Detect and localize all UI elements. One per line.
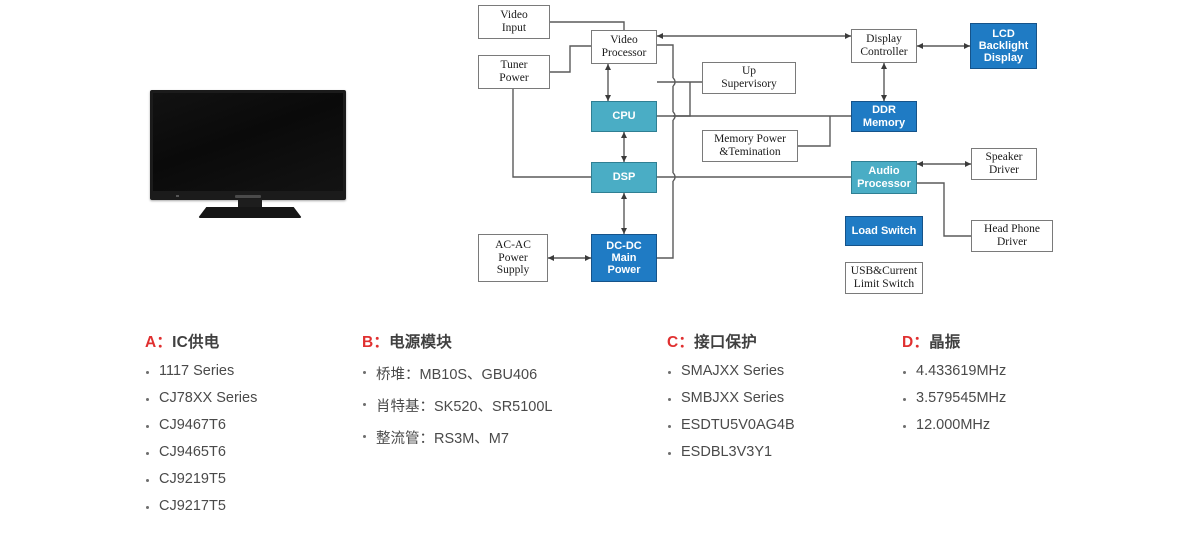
legend-list-b: 桥堆：MB10S、GBU406 肖特基：SK520、SR5100L 整流管：RS… [362,363,553,448]
legend-title-text-b: 电源模块 [389,334,452,351]
legend-title-b: B：电源模块 [362,330,553,352]
list-item: 肖特基：SK520、SR5100L [362,395,553,416]
page-root: Video Input Tuner Power Video Processor … [0,0,1200,539]
legend-title-text-a: IC供电 [172,334,219,351]
list-item: CJ9467T6 [145,417,257,433]
block-cpu: CPU [591,101,657,132]
legend-sep-a: ： [156,334,172,351]
legend-column-a: A：IC供电 1117 Series CJ78XX Series CJ9467T… [145,330,257,525]
legend-title-d: D：晶振 [902,330,1006,352]
legend-column-d: D：晶振 4.433619MHz 3.579545MHz 12.000MHz [902,330,1006,444]
legend-column-b: B：电源模块 桥堆：MB10S、GBU406 肖特基：SK520、SR5100L… [362,330,553,459]
legend-title-text-d: 晶振 [929,334,960,351]
block-dc-dc-main-power: DC-DC Main Power [591,234,657,282]
block-video-processor: Video Processor [591,30,657,64]
block-usb-current-limit-switch: USB&Current Limit Switch [845,262,923,294]
block-audio-processor: Audio Processor [851,161,917,194]
block-ddr-memory: DDR Memory [851,101,917,132]
list-item: 桥堆：MB10S、GBU406 [362,363,553,384]
legend-title-a: A：IC供电 [145,330,257,352]
list-item: CJ78XX Series [145,390,257,406]
legend-list-a: 1117 Series CJ78XX Series CJ9467T6 CJ946… [145,363,257,514]
list-item: ESDTU5V0AG4B [667,417,795,433]
legend-title-c: C：接口保护 [667,330,795,352]
list-item: 整流管：RS3M、M7 [362,427,553,448]
legend-key-d: D [902,334,913,351]
legend-key-c: C [667,334,678,351]
block-dsp: DSP [591,162,657,193]
component-legend: A：IC供电 1117 Series CJ78XX Series CJ9467T… [0,330,1200,539]
list-item: CJ9217T5 [145,498,257,514]
list-item: SMAJXX Series [667,363,795,379]
legend-list-d: 4.433619MHz 3.579545MHz 12.000MHz [902,363,1006,433]
legend-title-text-c: 接口保护 [694,334,757,351]
block-memory-power: Memory Power &Temination [702,130,798,162]
block-head-phone-driver: Head Phone Driver [971,220,1053,252]
list-item: 12.000MHz [902,417,1006,433]
legend-list-c: SMAJXX Series SMBJXX Series ESDTU5V0AG4B… [667,363,795,460]
block-speaker-driver: Speaker Driver [971,148,1037,180]
legend-key-b: B [362,334,373,351]
list-item: SMBJXX Series [667,390,795,406]
list-item: 3.579545MHz [902,390,1006,406]
list-item: 1117 Series [145,363,257,379]
list-item: ESDBL3V3Y1 [667,444,795,460]
block-display-controller: Display Controller [851,29,917,63]
list-item: CJ9465T6 [145,444,257,460]
legend-key-a: A [145,334,156,351]
block-lcd-backlight-display: LCD Backlight Display [970,23,1037,69]
block-tuner-power: Tuner Power [478,55,550,89]
block-video-input: Video Input [478,5,550,39]
block-load-switch: Load Switch [845,216,923,246]
legend-sep-d: ： [913,334,929,351]
system-block-diagram: Video Input Tuner Power Video Processor … [0,0,1200,310]
legend-sep-c: ： [678,334,694,351]
legend-column-c: C：接口保护 SMAJXX Series SMBJXX Series ESDTU… [667,330,795,471]
list-item: 4.433619MHz [902,363,1006,379]
block-up-supervisory: Up Supervisory [702,62,796,94]
legend-sep-b: ： [373,334,389,351]
block-ac-ac-power-supply: AC-AC Power Supply [478,234,548,282]
list-item: CJ9219T5 [145,471,257,487]
